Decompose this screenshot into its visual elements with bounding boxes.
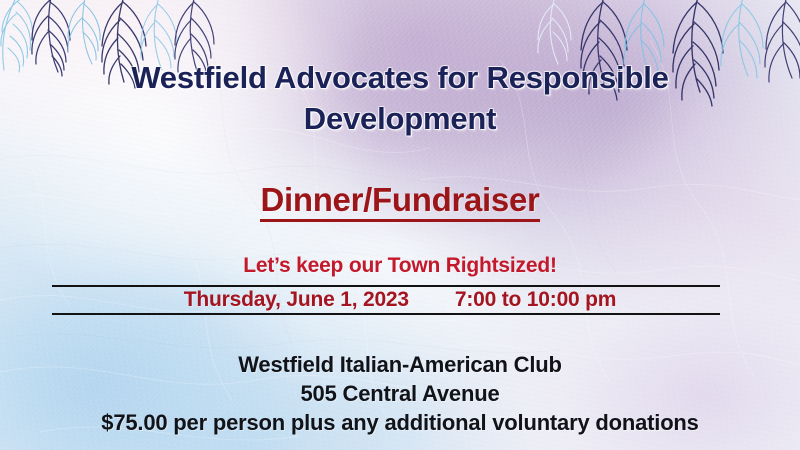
event-time: 7:00 to 10:00 pm (455, 288, 616, 312)
venue-address: 505 Central Avenue (0, 379, 800, 408)
event-date: Thursday, June 1, 2023 (184, 288, 409, 312)
organization-title: Westfield Advocates for Responsible Deve… (0, 58, 800, 140)
event-headline: Dinner/Fundraiser (0, 181, 800, 219)
flyer-content: Westfield Advocates for Responsible Deve… (0, 0, 800, 450)
event-headline-text: Dinner/Fundraiser (260, 181, 539, 222)
event-slogan: Let’s keep our Town Rightsized! (0, 254, 800, 278)
divider-bottom (52, 313, 720, 315)
venue-block: Westfield Italian-American Club 505 Cent… (0, 350, 800, 437)
organization-title-line2: Development (0, 99, 800, 140)
venue-name: Westfield Italian-American Club (0, 350, 800, 379)
event-flyer: Westfield Advocates for Responsible Deve… (0, 0, 800, 450)
event-datetime: Thursday, June 1, 2023 7:00 to 10:00 pm (0, 287, 800, 313)
organization-title-line1: Westfield Advocates for Responsible (0, 58, 800, 99)
ticket-price-note: $75.00 per person plus any additional vo… (0, 408, 800, 437)
